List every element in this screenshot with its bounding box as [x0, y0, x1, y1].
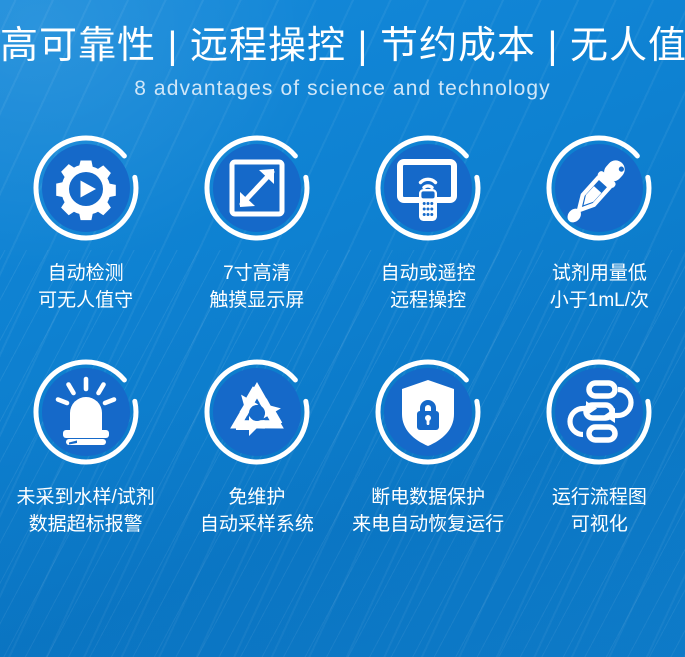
feature-item[interactable]: 断电数据保护 来电自动恢复运行: [343, 356, 514, 538]
caption-line-1: 断电数据保护: [371, 487, 485, 508]
feature-caption: 7寸高清 触摸显示屏: [209, 260, 304, 314]
caption-line-2: 可视化: [552, 511, 647, 538]
caption-line-1: 自动或遥控: [381, 263, 476, 284]
feature-item[interactable]: 未采到水样/试剂 数据超标报警: [0, 356, 171, 538]
caption-line-2: 触摸显示屏: [209, 287, 304, 314]
poster-header: 高可靠性 | 远程操控 | 节约成本 | 无人值守 8 advantages o…: [0, 0, 685, 104]
poster-root: 高可靠性 | 远程操控 | 节约成本 | 无人值守 8 advantages o…: [0, 0, 685, 657]
feature-caption: 运行流程图 可视化: [552, 484, 647, 538]
recycle-icon: [201, 356, 313, 468]
expand-arrows-screen-icon: [201, 132, 313, 244]
gear-play-icon: [30, 132, 142, 244]
page-subtitle: 8 advantages of science and technology: [0, 74, 685, 104]
caption-line-2: 小于1mL/次: [550, 287, 649, 314]
caption-line-1: 免维护: [228, 487, 285, 508]
feature-caption: 自动或遥控 远程操控: [381, 260, 476, 314]
features-row-top: 自动检测 可无人值守: [0, 132, 685, 314]
flowchart-loop-icon: [543, 356, 655, 468]
feature-item[interactable]: 免维护 自动采样系统: [171, 356, 342, 538]
pipette-dropper-icon: [543, 132, 655, 244]
feature-item[interactable]: 试剂用量低 小于1mL/次: [514, 132, 685, 314]
caption-line-1: 未采到水样/试剂: [16, 487, 154, 508]
caption-line-1: 自动检测: [48, 263, 124, 284]
caption-line-1: 试剂用量低: [552, 263, 647, 284]
alarm-siren-icon: [30, 356, 142, 468]
caption-line-1: 运行流程图: [552, 487, 647, 508]
caption-line-2: 来电自动恢复运行: [352, 511, 504, 538]
features-grid: 自动检测 可无人值守: [0, 132, 685, 538]
feature-item[interactable]: 自动或遥控 远程操控: [343, 132, 514, 314]
caption-line-2: 远程操控: [381, 287, 476, 314]
feature-caption: 免维护 自动采样系统: [200, 484, 314, 538]
feature-caption: 试剂用量低 小于1mL/次: [550, 260, 649, 314]
page-title: 高可靠性 | 远程操控 | 节约成本 | 无人值守: [0, 20, 685, 72]
caption-line-2: 数据超标报警: [16, 511, 154, 538]
feature-item[interactable]: 7寸高清 触摸显示屏: [171, 132, 342, 314]
feature-caption: 未采到水样/试剂 数据超标报警: [16, 484, 154, 538]
feature-item[interactable]: 运行流程图 可视化: [514, 356, 685, 538]
feature-caption: 自动检测 可无人值守: [38, 260, 133, 314]
feature-item[interactable]: 自动检测 可无人值守: [0, 132, 171, 314]
shield-lock-icon: [372, 356, 484, 468]
caption-line-2: 可无人值守: [38, 287, 133, 314]
monitor-remote-control-icon: [372, 132, 484, 244]
caption-line-1: 7寸高清: [223, 263, 291, 284]
feature-caption: 断电数据保护 来电自动恢复运行: [352, 484, 504, 538]
features-row-bottom: 未采到水样/试剂 数据超标报警: [0, 356, 685, 538]
caption-line-2: 自动采样系统: [200, 511, 314, 538]
